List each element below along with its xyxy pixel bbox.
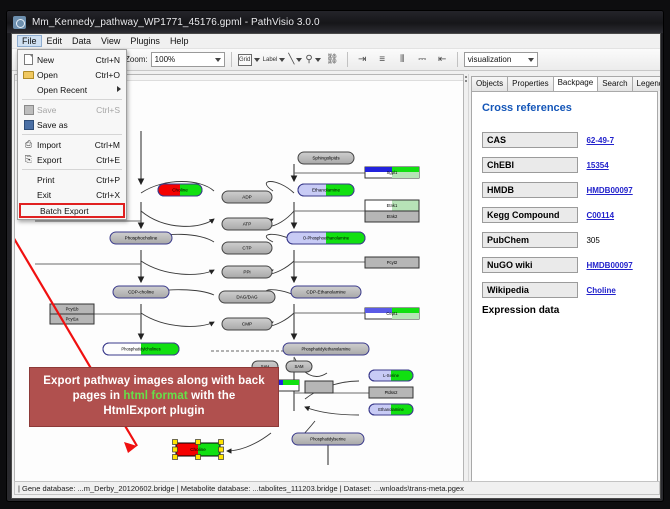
align-left-icon: ⇥	[358, 55, 366, 65]
align-right-button[interactable]: ⇤	[434, 51, 451, 68]
menu-item-label: Save	[37, 105, 96, 115]
new-document-icon	[20, 53, 37, 66]
pathway-gene-etnk2: Etnk2	[365, 211, 419, 222]
xref-value-link[interactable]: HMDB00097	[586, 186, 632, 195]
node-label: Phosphatidylcholines	[121, 347, 160, 352]
xref-name: NuGO wiki	[482, 257, 578, 273]
menu-item-accel: Ctrl+M	[95, 140, 126, 150]
xref-kegg-compound: Kegg Compound C00114	[482, 205, 657, 223]
chevron-down-icon	[296, 58, 302, 62]
tab-search[interactable]: Search	[597, 76, 632, 91]
screenshot-root: Mm_Kennedy_pathway_WP1771_45176.gpml - P…	[0, 0, 670, 509]
file-menu-dropdown: New Ctrl+N Open Ctrl+O Open Recent Save	[17, 49, 127, 220]
node-label: CMP	[242, 322, 252, 327]
pathway-gene-ptdss2: Ptdss2	[369, 387, 413, 398]
panel-subheading: Expression data	[482, 305, 657, 316]
xref-value-link[interactable]: HMDB00097	[586, 261, 632, 270]
gene-label: Etnk2	[387, 214, 398, 219]
pathway-node-ethanolamine-upper: Ethanolamine	[298, 184, 354, 196]
gene-label: Cept1	[386, 311, 398, 316]
menu-item-save: Save Ctrl+S	[18, 102, 126, 117]
toolbar-separator	[457, 52, 458, 67]
label-icon: Label	[263, 57, 278, 63]
callout-line-1: Export pathway images along with back	[34, 374, 274, 389]
xref-name: Wikipedia	[482, 282, 578, 298]
distribute-icon: ⦀	[400, 55, 404, 65]
anchor-icon: ⛓	[326, 55, 339, 65]
application-window: Mm_Kennedy_pathway_WP1771_45176.gpml - P…	[6, 10, 664, 502]
app-surface: File Edit Data View Plugins Help Zoom: 1…	[11, 33, 661, 499]
node-label: PPi	[243, 270, 250, 275]
pathway-gene-pcyt1a: Pcyt1a	[50, 314, 94, 324]
pathway-gene-box-right	[305, 381, 333, 393]
xref-name: CAS	[482, 132, 578, 148]
align-left-button[interactable]: ⇥	[354, 51, 371, 68]
menu-edit[interactable]: Edit	[42, 35, 68, 47]
pathway-node-choline-top: Choline	[158, 184, 202, 196]
xref-name: PubChem	[482, 232, 578, 248]
xref-value-link[interactable]: C00114	[586, 211, 614, 220]
zoom-combobox[interactable]: 100%	[151, 52, 225, 67]
pathway-node-phosphatidylcholines: Phosphatidylcholines	[103, 343, 179, 355]
shape-tool-button[interactable]: ⚲	[305, 55, 320, 65]
xref-wikipedia: Wikipedia Choline	[482, 280, 657, 298]
export-icon: ⎘	[20, 153, 37, 166]
node-label: CDP-Ethanolamine	[306, 290, 346, 295]
gene-label: Etnk1	[387, 203, 398, 208]
menu-item-exit[interactable]: Exit Ctrl+X	[18, 187, 126, 202]
line-tool-button[interactable]: ╲	[288, 55, 302, 65]
gene-label: Ptdss2	[385, 390, 398, 395]
node-label: Choline	[172, 188, 188, 193]
visualization-combobox[interactable]: visualization	[464, 52, 538, 67]
pathway-node-cdp-choline: CDP-choline	[113, 286, 169, 298]
xref-nugo-wiki: NuGO wiki HMDB00097	[482, 255, 657, 273]
zoom-label: Zoom:	[125, 55, 148, 64]
pathway-node-atp: ATP	[222, 218, 272, 230]
menu-item-label: Batch Export	[40, 206, 123, 216]
menu-plugins[interactable]: Plugins	[125, 35, 165, 47]
pathway-node-dag: DAG/DAG	[219, 291, 275, 303]
xref-pubchem: PubChem 305	[482, 230, 657, 248]
chevron-down-icon	[315, 58, 321, 62]
align-right-icon: ⇤	[438, 55, 446, 65]
node-label: Choline	[190, 447, 206, 452]
pathway-node-sphingolipids: Sphingolipids	[298, 152, 354, 164]
tab-objects[interactable]: Objects	[471, 76, 508, 91]
xref-value-text: 305	[586, 236, 599, 245]
sidebar-tabstrip: Objects Properties Backpage Search Legen…	[471, 74, 660, 91]
menu-item-import[interactable]: ⎙ Import Ctrl+M	[18, 137, 126, 152]
menu-item-batch-export[interactable]: Batch Export	[19, 203, 125, 218]
pathway-gene-pcyt1b: Pcyt1b	[50, 304, 94, 314]
gene-label: Sgpl1	[387, 170, 398, 175]
xref-hmdb: HMDB HMDB00097	[482, 180, 657, 198]
menu-item-label: Save as	[37, 120, 120, 130]
callout-line-2: pages in html format with the	[34, 389, 274, 404]
node-label: Ethanolamine	[378, 407, 404, 412]
menu-item-save-as[interactable]: Save as	[18, 117, 126, 132]
menu-data[interactable]: Data	[67, 35, 96, 47]
menu-item-label: Open	[37, 70, 95, 80]
chevron-down-icon	[215, 58, 221, 62]
menu-item-open-recent[interactable]: Open Recent	[18, 82, 126, 97]
grid-tool-button[interactable]: Grid	[238, 54, 260, 66]
pathway-node-phosphatidylserine: Phosphatidylserine	[292, 433, 364, 445]
node-label: L-Serine	[383, 373, 399, 378]
node-label: O-Phosphoethanolamine	[303, 236, 350, 241]
menu-separator	[22, 134, 122, 135]
menu-item-accel: Ctrl+S	[96, 105, 126, 115]
sidebar-splitter[interactable]	[464, 74, 469, 484]
menu-separator	[22, 99, 122, 100]
pathway-node-cmp: CMP	[222, 318, 272, 330]
menu-item-accel: Ctrl+E	[96, 155, 126, 165]
save-disk-icon	[20, 103, 37, 116]
pathway-node-phosphocholine: Phosphocholine	[110, 232, 172, 244]
pathway-node-adp: ADP	[222, 191, 272, 203]
status-text: | Gene database: ...m_Derby_20120602.bri…	[18, 484, 464, 493]
blank-icon	[20, 173, 37, 186]
chevron-down-icon	[279, 58, 285, 62]
xref-name: HMDB	[482, 182, 578, 198]
blank-icon	[23, 204, 40, 217]
menu-item-label: Open Recent	[37, 85, 126, 95]
gene-label: Pcyt2	[387, 260, 398, 265]
sidebar: Objects Properties Backpage Search Legen…	[464, 74, 660, 484]
title-bar: Mm_Kennedy_pathway_WP1771_45176.gpml - P…	[7, 11, 663, 33]
align-bottom-button[interactable]: ⎓	[414, 51, 431, 68]
toolbar-separator	[347, 52, 348, 67]
node-label: Ethanolamine	[312, 188, 341, 193]
annotation-callout: Export pathway images along with back pa…	[29, 367, 279, 427]
xref-value-link[interactable]: 62-49-7	[586, 136, 614, 145]
panel-heading: Cross references	[482, 102, 657, 114]
node-label: Phosphatidylserine	[310, 437, 346, 442]
node-label: CDP-choline	[128, 290, 154, 295]
menu-item-accel: Ctrl+P	[96, 175, 126, 185]
menu-item-new[interactable]: New Ctrl+N	[18, 52, 126, 67]
chevron-down-icon	[254, 58, 260, 62]
menu-item-label: Import	[37, 140, 95, 150]
node-label: ADP	[242, 195, 251, 200]
pathway-node-ppi: PPi	[222, 266, 272, 278]
pathway-gene-etnk1: Etnk1	[365, 200, 419, 211]
node-label: Sphingolipids	[312, 156, 340, 161]
xref-chebi: ChEBI 15354	[482, 155, 657, 173]
gene-label: Pcyt1a	[66, 316, 79, 321]
node-label: SAM	[294, 364, 304, 369]
node-label: CTP	[242, 246, 251, 251]
menu-item-label: Exit	[37, 190, 96, 200]
align-bottom-icon: ⎓	[418, 55, 426, 65]
tab-backpage[interactable]: Backpage	[553, 76, 599, 91]
menu-item-export[interactable]: ⎘ Export Ctrl+E	[18, 152, 126, 167]
gene-label: Pcyt1b	[66, 306, 79, 311]
backpage-panel: Cross references CAS 62-49-7 ChEBI 15354…	[471, 91, 658, 482]
menu-bar: File Edit Data View Plugins Help	[12, 34, 660, 49]
menu-item-label: Export	[37, 155, 96, 165]
import-icon: ⎙	[20, 138, 37, 151]
node-label: DAG/DAG	[236, 295, 258, 300]
tab-legend[interactable]: Legend	[632, 76, 661, 91]
node-label: ATP	[243, 222, 252, 227]
callout-highlight: html format	[123, 390, 187, 402]
pathway-node-choline-selected: Choline	[173, 440, 224, 460]
align-center-button[interactable]: ≡	[374, 51, 391, 68]
xref-value-link[interactable]: 15354	[586, 161, 608, 170]
xref-name: Kegg Compound	[482, 207, 578, 223]
pathway-node-phosphatidylethanolamine: Phosphatidylethanolamine	[283, 343, 369, 355]
node-label: Phosphatidylethanolamine	[301, 347, 351, 352]
pathway-node-o-phosphoethanolamine: O-Phosphoethanolamine	[287, 232, 365, 244]
blank-icon	[20, 188, 37, 201]
pathway-node-cdp-ethanolamine: CDP-Ethanolamine	[291, 286, 361, 298]
menu-item-open[interactable]: Open Ctrl+O	[18, 67, 126, 82]
menu-item-label: Print	[37, 175, 96, 185]
window-title: Mm_Kennedy_pathway_WP1771_45176.gpml - P…	[32, 17, 320, 28]
label-tool-button[interactable]: Label	[263, 57, 286, 63]
pathway-gene-cept1: Cept1	[365, 308, 419, 319]
menu-item-accel: Ctrl+N	[96, 55, 126, 65]
visualization-value: visualization	[468, 55, 512, 64]
xref-value-link[interactable]: Choline	[586, 286, 615, 295]
submenu-arrow-icon	[117, 86, 121, 92]
line-icon: ╲	[288, 55, 294, 65]
distribute-button[interactable]: ⦀	[394, 51, 411, 68]
align-center-icon: ≡	[379, 55, 385, 65]
anchor-tool-button[interactable]: ⛓	[324, 51, 341, 68]
blank-icon	[20, 83, 37, 96]
status-bar: | Gene database: ...m_Derby_20120602.bri…	[14, 481, 660, 495]
callout-line-3: HtmlExport plugin	[34, 404, 274, 419]
menu-item-accel: Ctrl+O	[95, 70, 126, 80]
callout-line-2-suffix: with the	[188, 390, 236, 402]
grid-icon: Grid	[238, 54, 252, 66]
menu-item-print[interactable]: Print Ctrl+P	[18, 172, 126, 187]
open-folder-icon	[20, 68, 37, 81]
pathway-gene-sgpl1: Sgpl1	[365, 167, 419, 178]
menu-item-label: New	[37, 55, 96, 65]
pathway-node-ctp: CTP	[222, 242, 272, 254]
save-as-disk-icon	[20, 118, 37, 131]
pathvisio-icon	[13, 16, 26, 29]
xref-name: ChEBI	[482, 157, 578, 173]
pathway-node-l-serine: L-Serine	[369, 370, 413, 381]
pathway-node-ethanolamine-lower: Ethanolamine	[369, 404, 413, 415]
pathway-gene-pcyt2: Pcyt2	[365, 257, 419, 268]
menu-help[interactable]: Help	[165, 35, 194, 47]
node-label: Phosphocholine	[125, 236, 158, 241]
menu-item-accel: Ctrl+X	[96, 190, 126, 200]
shape-icon: ⚲	[305, 55, 312, 65]
tab-properties[interactable]: Properties	[507, 76, 553, 91]
toolbar-separator	[231, 52, 232, 67]
menu-file[interactable]: File	[17, 35, 42, 47]
pathway-node-sam: SAM	[286, 361, 312, 372]
chevron-down-icon	[528, 58, 534, 62]
menu-separator	[22, 169, 122, 170]
menu-view[interactable]: View	[96, 35, 125, 47]
zoom-value: 100%	[155, 55, 175, 64]
callout-line-2-prefix: pages in	[73, 390, 124, 402]
xref-cas: CAS 62-49-7	[482, 130, 657, 148]
